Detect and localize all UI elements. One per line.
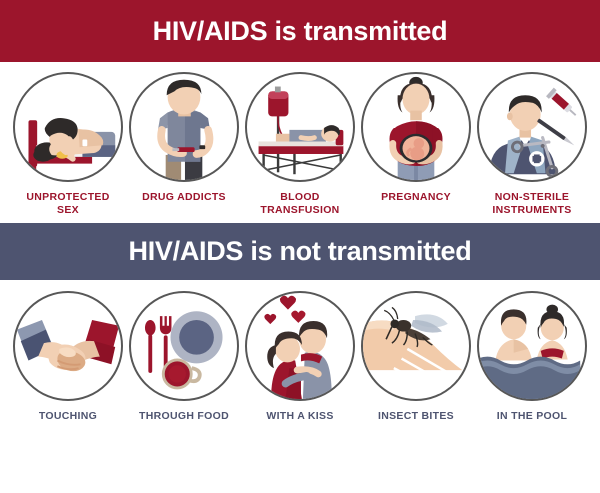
item-blood-transfusion: BLOOD TRANSFUSION	[244, 72, 356, 217]
circle-through-food	[129, 291, 239, 401]
caption-touching: TOUCHING	[39, 410, 97, 423]
caption-through-food: THROUGH FOOD	[139, 410, 229, 423]
item-unprotected-sex: UNPROTECTED SEX	[12, 72, 124, 217]
circle-insect-bites	[361, 291, 471, 401]
banner-transmitted-title: HIV/AIDS is transmitted	[153, 18, 448, 45]
hiv-transmission-infographic: HIV/AIDS is transmitted	[0, 0, 600, 493]
unprotected-sex-icon	[15, 74, 121, 180]
mosquito-bite-icon	[363, 293, 469, 399]
circle-in-the-pool	[477, 291, 587, 401]
food-utensils-icon	[131, 293, 237, 399]
kissing-couple-icon	[247, 293, 353, 399]
item-pregnancy: PREGNANCY	[360, 72, 472, 217]
caption-in-the-pool: IN THE POOL	[497, 410, 567, 423]
item-insect-bites: INSECT BITES	[360, 291, 472, 423]
caption-pregnancy: PREGNANCY	[381, 191, 451, 204]
circle-pregnancy	[361, 72, 471, 182]
circle-unprotected-sex	[13, 72, 123, 182]
circle-touching	[13, 291, 123, 401]
item-non-sterile-instruments: NON-STERILE INSTRUMENTS	[476, 72, 588, 217]
non-sterile-instruments-icon	[479, 74, 585, 180]
caption-blood-transfusion: BLOOD TRANSFUSION	[260, 191, 339, 217]
item-through-food: THROUGH FOOD	[128, 291, 240, 423]
banner-not-transmitted: HIV/AIDS is not transmitted	[0, 223, 600, 280]
blood-transfusion-icon	[247, 74, 353, 180]
handshake-icon	[15, 293, 121, 399]
item-touching: TOUCHING	[12, 291, 124, 423]
item-with-a-kiss: WITH A KISS	[244, 291, 356, 423]
swimming-pool-icon	[479, 293, 585, 399]
banner-not-transmitted-title: HIV/AIDS is not transmitted	[129, 238, 472, 265]
row-transmitted: UNPROTECTED SEX	[0, 62, 600, 217]
caption-non-sterile-instruments: NON-STERILE INSTRUMENTS	[492, 191, 571, 217]
circle-non-sterile-instruments	[477, 72, 587, 182]
caption-insect-bites: INSECT BITES	[378, 410, 454, 423]
pregnancy-icon	[363, 74, 469, 180]
row-not-transmitted: TOUCHING	[0, 280, 600, 423]
caption-with-a-kiss: WITH A KISS	[266, 410, 333, 423]
circle-with-a-kiss	[245, 291, 355, 401]
banner-transmitted: HIV/AIDS is transmitted	[0, 0, 600, 62]
drug-addicts-icon	[131, 74, 237, 180]
item-in-the-pool: IN THE POOL	[476, 291, 588, 423]
circle-drug-addicts	[129, 72, 239, 182]
item-drug-addicts: DRUG ADDICTS	[128, 72, 240, 217]
circle-blood-transfusion	[245, 72, 355, 182]
caption-unprotected-sex: UNPROTECTED SEX	[26, 191, 109, 217]
caption-drug-addicts: DRUG ADDICTS	[142, 191, 226, 204]
